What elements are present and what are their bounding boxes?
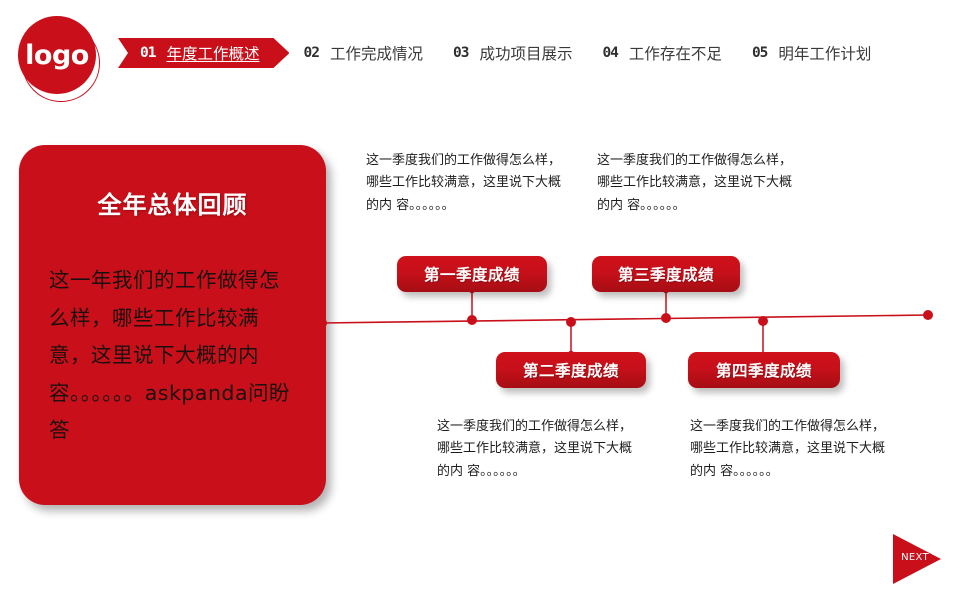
timeline-dot-q1 (467, 315, 477, 325)
nav-item-03-label: 成功项目展示 (479, 42, 572, 64)
logo-disc: logo (18, 16, 96, 94)
quarter-1-badge[interactable]: 第一季度成绩 (397, 256, 547, 292)
timeline-dot-q4 (758, 316, 768, 326)
quarter-4-description: 这一季度我们的工作做得怎么样，哪些工作比较满意，这里说下大概的内 容。。。。。。 (690, 416, 895, 483)
quarter-1-description: 这一季度我们的工作做得怎么样，哪些工作比较满意，这里说下大概的内 容。。。。。。 (366, 150, 571, 217)
quarter-2-badge[interactable]: 第二季度成绩 (496, 352, 646, 388)
summary-panel-body: 这一年我们的工作做得怎么样，哪些工作比较满意，这里说下大概的内容。。。。。。as… (49, 262, 298, 450)
summary-panel: 全年总体回顾 这一年我们的工作做得怎么样，哪些工作比较满意，这里说下大概的内容。… (19, 145, 326, 505)
quarter-3-description: 这一季度我们的工作做得怎么样，哪些工作比较满意，这里说下大概的内 容。。。。。。 (597, 150, 802, 217)
next-button[interactable]: NEXT (893, 534, 941, 584)
nav-item-02-label: 工作完成情况 (330, 42, 423, 64)
nav-item-01-number: 01 (140, 45, 155, 61)
slide-canvas: logo 01 年度工作概述 02 工作完成情况 03 成功项目展示 04 工作… (0, 0, 960, 600)
timeline-dot-q3 (661, 313, 671, 323)
nav-item-04-number: 04 (602, 45, 617, 61)
next-button-label: NEXT (895, 552, 935, 563)
top-navigation: 01 年度工作概述 02 工作完成情况 03 成功项目展示 04 工作存在不足 … (118, 36, 871, 70)
nav-item-04[interactable]: 04 工作存在不足 (602, 36, 721, 70)
nav-item-05[interactable]: 05 明年工作计划 (752, 36, 871, 70)
nav-item-03[interactable]: 03 成功项目展示 (453, 36, 572, 70)
quarter-2-description: 这一季度我们的工作做得怎么样，哪些工作比较满意，这里说下大概的内 容。。。。。。 (437, 416, 642, 483)
nav-item-04-label: 工作存在不足 (629, 42, 722, 64)
timeline-axis (322, 315, 928, 323)
nav-item-02-number: 02 (303, 45, 318, 61)
quarter-4-badge[interactable]: 第四季度成绩 (688, 352, 840, 388)
nav-item-03-number: 03 (453, 45, 468, 61)
quarter-3-badge[interactable]: 第三季度成绩 (592, 256, 740, 292)
logo-text: logo (25, 42, 89, 69)
nav-item-01[interactable]: 01 年度工作概述 (118, 38, 289, 68)
summary-panel-title: 全年总体回顾 (19, 185, 326, 220)
nav-item-01-label: 年度工作概述 (166, 42, 259, 64)
logo[interactable]: logo (16, 14, 116, 100)
nav-item-05-number: 05 (752, 45, 767, 61)
timeline-dot-end (923, 310, 933, 320)
nav-item-02[interactable]: 02 工作完成情况 (303, 36, 422, 70)
timeline-dot-q2 (566, 317, 576, 327)
nav-item-05-label: 明年工作计划 (778, 42, 871, 64)
